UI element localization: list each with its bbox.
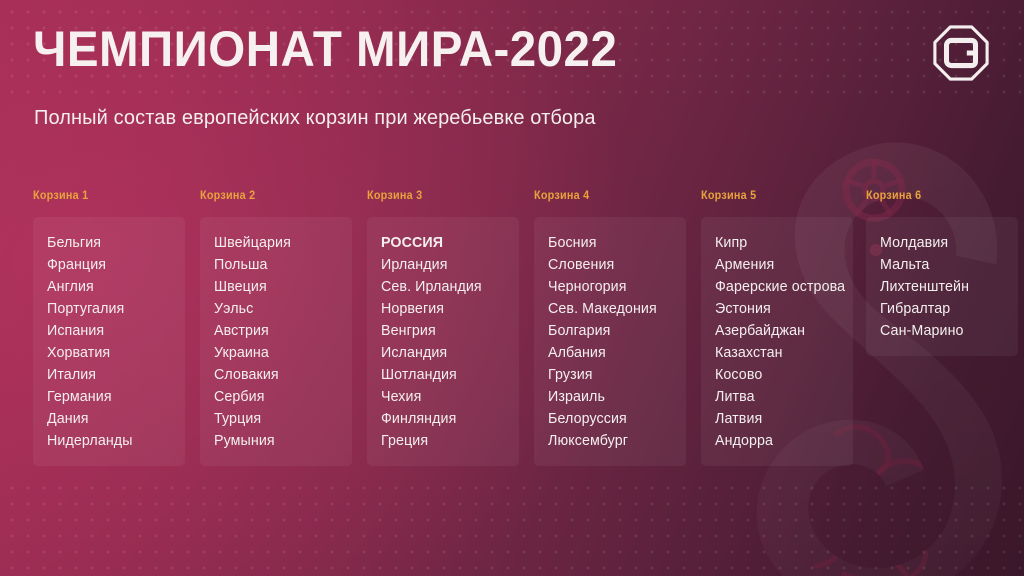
team-name: Словения	[548, 254, 679, 276]
team-name: Финляндия	[381, 408, 512, 430]
team-name: Грузия	[548, 364, 679, 386]
team-name: Турция	[214, 408, 345, 430]
pots-grid: Корзина 1БельгияФранцияАнглияПортугалияИ…	[0, 0, 1024, 576]
team-name: Казахстан	[715, 342, 846, 364]
pot-label-6: Корзина 6	[866, 190, 1009, 208]
team-name: Швейцария	[214, 232, 345, 254]
team-name: Мальта	[880, 254, 1011, 276]
team-name: Армения	[715, 254, 846, 276]
team-name: Италия	[47, 364, 178, 386]
pot-column-1: Корзина 1БельгияФранцияАнглияПортугалияИ…	[33, 190, 185, 466]
team-name: Белоруссия	[548, 408, 679, 430]
team-name-host: РОССИЯ	[381, 232, 512, 254]
team-name: Чехия	[381, 386, 512, 408]
pot-box-4: БоснияСловенияЧерногорияСев. МакедонияБо…	[534, 217, 686, 466]
team-name: Шотландия	[381, 364, 512, 386]
team-name: Болгария	[548, 320, 679, 342]
team-name: Испания	[47, 320, 178, 342]
team-name: Франция	[47, 254, 178, 276]
team-name: Кипр	[715, 232, 846, 254]
team-name: Англия	[47, 276, 178, 298]
team-name: Босния	[548, 232, 679, 254]
team-name: Нидерланды	[47, 430, 178, 452]
team-name: Норвегия	[381, 298, 512, 320]
pot-box-5: КипрАрменияФарерские островаЭстонияАзерб…	[701, 217, 853, 466]
pot-box-3: РОССИЯИрландияСев. ИрландияНорвегияВенгр…	[367, 217, 519, 466]
team-name: Дания	[47, 408, 178, 430]
team-name: Исландия	[381, 342, 512, 364]
team-name: Косово	[715, 364, 846, 386]
team-name: Люксембург	[548, 430, 679, 452]
pot-column-6: Корзина 6МолдавияМальтаЛихтенштейнГибрал…	[866, 190, 1018, 356]
team-name: Албания	[548, 342, 679, 364]
pot-box-1: БельгияФранцияАнглияПортугалияИспанияХор…	[33, 217, 185, 466]
team-name: Молдавия	[880, 232, 1011, 254]
team-name: Ирландия	[381, 254, 512, 276]
pot-label-3: Корзина 3	[367, 190, 510, 208]
team-name: Лихтенштейн	[880, 276, 1011, 298]
pot-box-6: МолдавияМальтаЛихтенштейнГибралтарСан-Ма…	[866, 217, 1018, 356]
pot-label-4: Корзина 4	[534, 190, 677, 208]
team-name: Греция	[381, 430, 512, 452]
pot-label-2: Корзина 2	[200, 190, 343, 208]
team-name: Германия	[47, 386, 178, 408]
team-name: Польша	[214, 254, 345, 276]
team-name: Венгрия	[381, 320, 512, 342]
team-name: Азербайджан	[715, 320, 846, 342]
pot-column-5: Корзина 5КипрАрменияФарерские островаЭст…	[701, 190, 853, 466]
team-name: Сев. Ирландия	[381, 276, 512, 298]
pot-column-4: Корзина 4БоснияСловенияЧерногорияСев. Ма…	[534, 190, 686, 466]
pot-label-1: Корзина 1	[33, 190, 176, 208]
team-name: Андорра	[715, 430, 846, 452]
infographic-root: ЧЕМПИОНАТ МИРА-2022 Полный состав европе…	[0, 0, 1024, 576]
pot-column-3: Корзина 3РОССИЯИрландияСев. ИрландияНорв…	[367, 190, 519, 466]
team-name: Португалия	[47, 298, 178, 320]
team-name: Бельгия	[47, 232, 178, 254]
team-name: Хорватия	[47, 342, 178, 364]
team-name: Гибралтар	[880, 298, 1011, 320]
team-name: Сербия	[214, 386, 345, 408]
team-name: Латвия	[715, 408, 846, 430]
pot-box-2: ШвейцарияПольшаШвецияУэльсАвстрияУкраина…	[200, 217, 352, 466]
pot-label-5: Корзина 5	[701, 190, 844, 208]
team-name: Словакия	[214, 364, 345, 386]
team-name: Сев. Македония	[548, 298, 679, 320]
team-name: Сан-Марино	[880, 320, 1011, 342]
team-name: Швеция	[214, 276, 345, 298]
team-name: Румыния	[214, 430, 345, 452]
team-name: Черногория	[548, 276, 679, 298]
team-name: Украина	[214, 342, 345, 364]
team-name: Уэльс	[214, 298, 345, 320]
team-name: Литва	[715, 386, 846, 408]
team-name: Израиль	[548, 386, 679, 408]
team-name: Австрия	[214, 320, 345, 342]
team-name: Эстония	[715, 298, 846, 320]
team-name: Фарерские острова	[715, 276, 846, 298]
pot-column-2: Корзина 2ШвейцарияПольшаШвецияУэльсАвстр…	[200, 190, 352, 466]
